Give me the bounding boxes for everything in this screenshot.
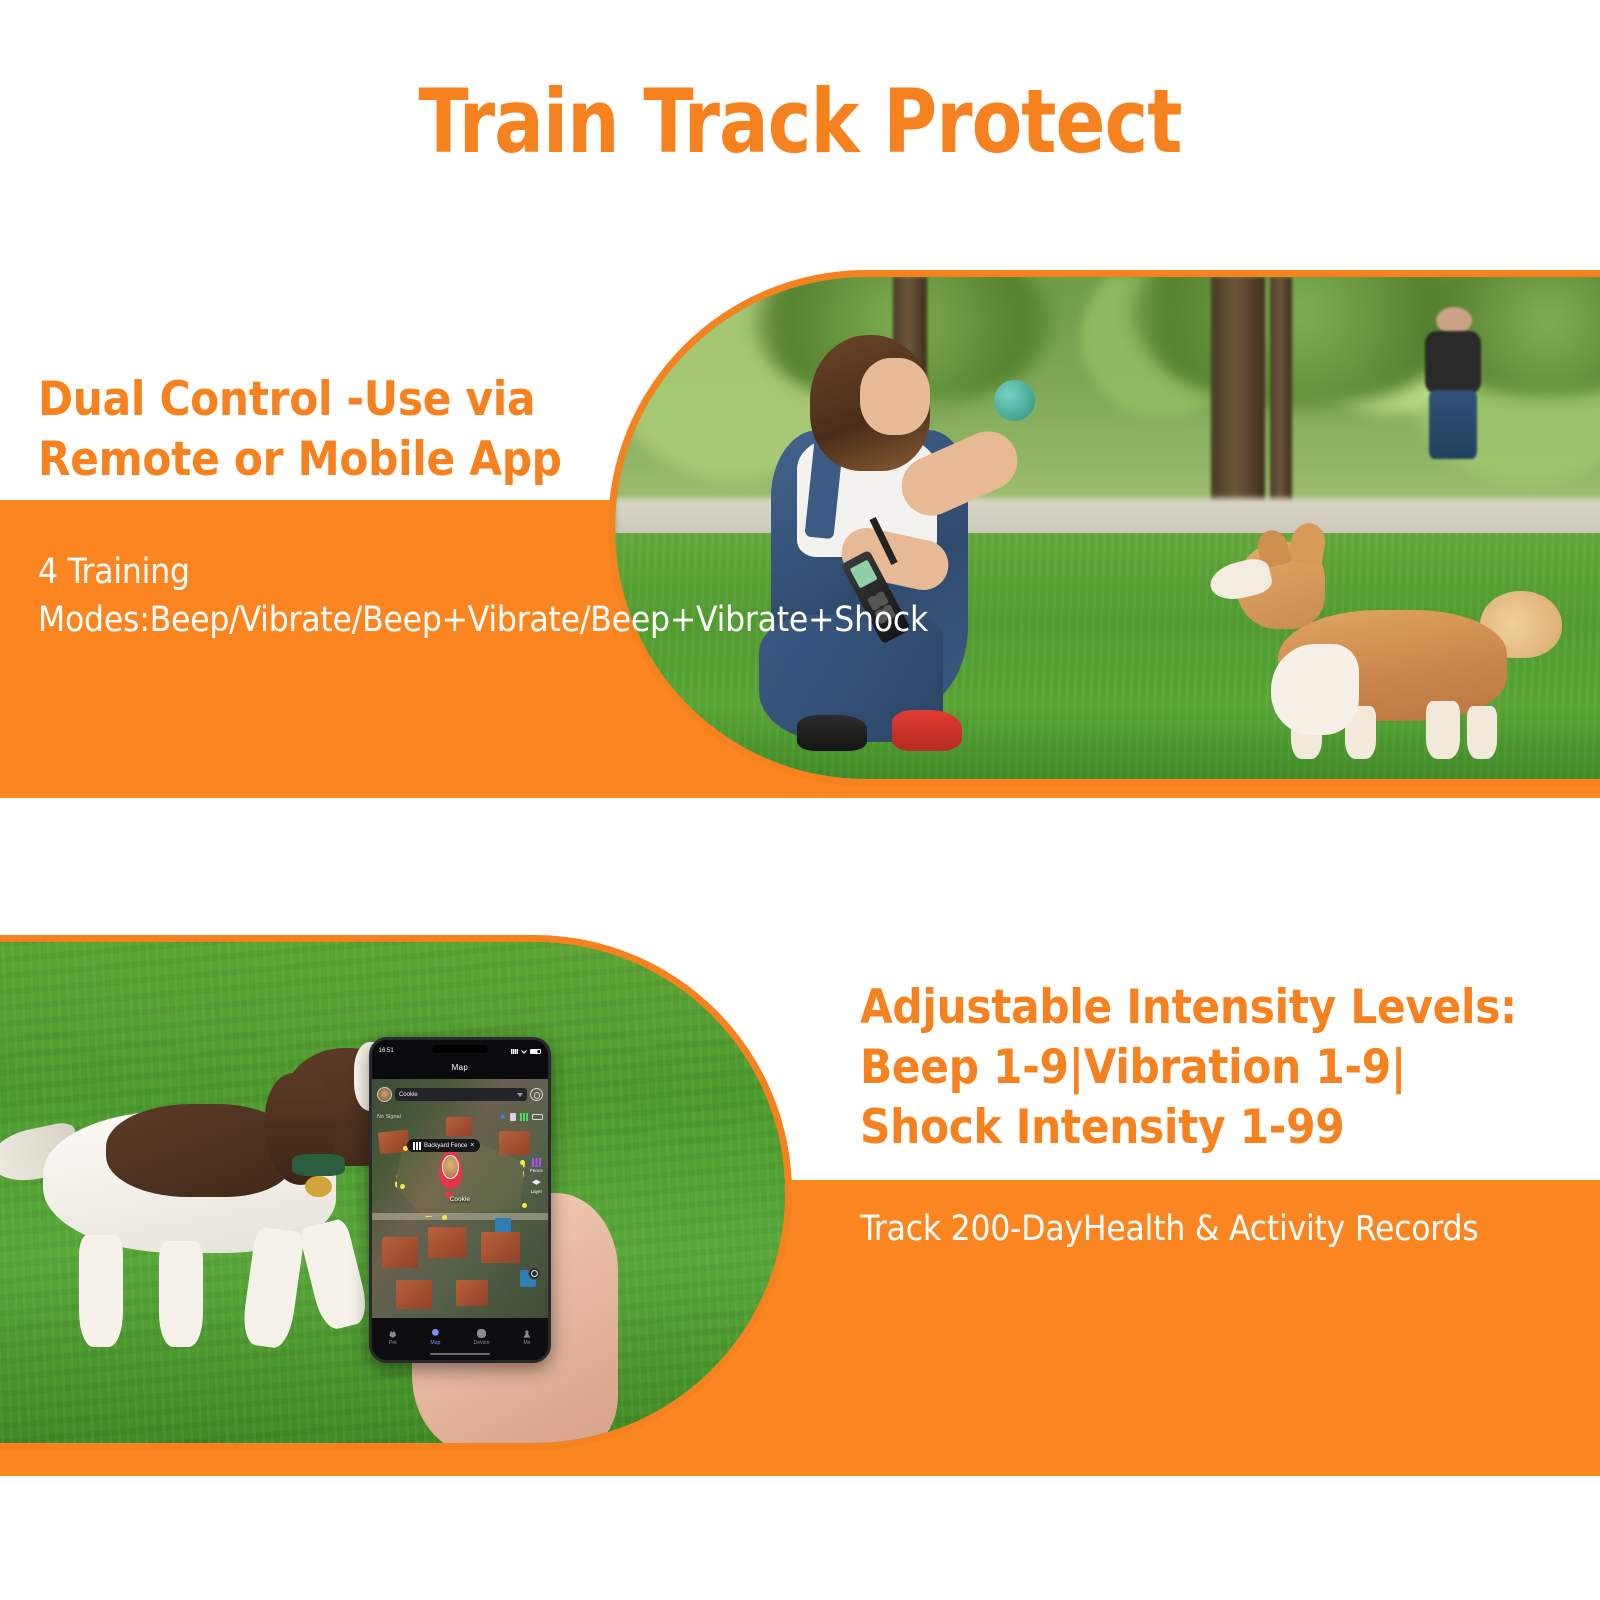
corgi-leg xyxy=(1426,701,1460,759)
status-time: 16:51 xyxy=(379,1048,394,1054)
tab-map[interactable]: Map xyxy=(430,1329,440,1346)
tab-device[interactable]: Device xyxy=(474,1329,490,1346)
green-ball xyxy=(994,380,1035,421)
spaniel-leg xyxy=(159,1241,203,1347)
pet-select-value: Cookie xyxy=(399,1092,418,1098)
battery-icon xyxy=(532,1114,543,1120)
pet-pin-avatar-icon xyxy=(442,1155,459,1179)
corgi-dog xyxy=(1231,528,1569,769)
tree-trunk xyxy=(1270,277,1292,528)
bluetooth-icon: ✺ xyxy=(500,1113,506,1121)
pet-location-pin[interactable] xyxy=(439,1150,462,1188)
tab-pet[interactable]: Pet xyxy=(388,1329,397,1346)
fence-chip[interactable]: Backyard Fence × xyxy=(407,1139,480,1152)
layers-icon xyxy=(532,1179,541,1188)
park-scene xyxy=(615,277,1600,779)
adjustable-intensity-body: Track 200-DayHealth & Activity Records xyxy=(860,1205,1560,1253)
fence-icon xyxy=(520,1113,528,1121)
chevron-down-icon xyxy=(517,1093,523,1097)
pedestrian-head xyxy=(1436,307,1472,334)
woman-red-sneaker xyxy=(892,710,962,751)
pedestrian-torso xyxy=(1425,331,1480,394)
tab-me[interactable]: Me xyxy=(522,1329,531,1346)
background-pedestrian xyxy=(1409,307,1498,458)
person-icon xyxy=(522,1329,531,1338)
map-side-buttons: Fence Layer xyxy=(530,1158,543,1194)
woman-with-remote xyxy=(714,317,1032,769)
map-building xyxy=(396,1280,431,1309)
paw-icon xyxy=(388,1329,397,1338)
corgi-ear xyxy=(1288,521,1328,567)
tab-device-label: Device xyxy=(474,1340,490,1346)
map-building xyxy=(428,1227,467,1258)
fence-chip-label: Backyard Fence xyxy=(424,1143,467,1149)
spaniel-brown-saddle xyxy=(106,1104,293,1197)
layer-button[interactable]: Layer xyxy=(531,1179,543,1194)
locate-icon[interactable] xyxy=(528,1267,541,1280)
map-building xyxy=(382,1237,417,1268)
layer-button-label: Layer xyxy=(531,1189,543,1194)
device-status-label: No Signal xyxy=(377,1114,401,1120)
device-icon xyxy=(477,1329,486,1338)
map-pin-icon xyxy=(431,1329,440,1338)
gear-icon[interactable] xyxy=(530,1088,543,1101)
map-building xyxy=(456,1280,488,1306)
tab-me-label: Me xyxy=(523,1340,530,1346)
woman-dark-sneaker xyxy=(797,715,867,751)
smartphone: 16:51 Map xyxy=(369,1037,551,1363)
pet-select-dropdown[interactable]: Cookie xyxy=(395,1088,527,1101)
corgi-chest xyxy=(1271,644,1359,736)
pet-pin-label: Cookie xyxy=(425,1196,496,1203)
fence-button[interactable]: Fence xyxy=(530,1158,543,1173)
map-pool xyxy=(495,1218,511,1232)
dual-control-body: 4 Training Modes:Beep/Vibrate/Beep+Vibra… xyxy=(38,548,618,644)
battery-icon xyxy=(530,1049,541,1054)
pedestrian-legs xyxy=(1429,390,1477,459)
device-status-row: No Signal ✺ xyxy=(377,1109,543,1125)
close-icon[interactable]: × xyxy=(470,1142,474,1149)
home-indicator xyxy=(430,1353,490,1355)
geofence-handle[interactable] xyxy=(522,1203,527,1208)
map-building xyxy=(499,1131,531,1155)
tab-map-label: Map xyxy=(430,1340,440,1346)
app-screen-title: Map xyxy=(372,1063,548,1072)
woman-face xyxy=(860,358,930,435)
pet-selector-bar: Cookie xyxy=(377,1083,543,1105)
spaniel-leg xyxy=(298,1218,371,1332)
tab-pet-label: Pet xyxy=(389,1340,397,1346)
pet-avatar-icon[interactable] xyxy=(377,1087,392,1102)
spaniel-leg xyxy=(79,1235,123,1347)
corgi-leg xyxy=(1467,706,1497,759)
map-building xyxy=(481,1232,520,1263)
fence-grid-icon xyxy=(413,1142,421,1150)
lock-icon xyxy=(510,1113,516,1121)
dual-control-photo xyxy=(608,270,1600,786)
fence-icon xyxy=(532,1158,541,1167)
page-title: Train Track Protect xyxy=(56,70,1544,173)
adjustable-intensity-heading: Adjustable Intensity Levels: Beep 1-9|Vi… xyxy=(860,978,1560,1158)
tracking-app-photo: 16:51 Map xyxy=(0,935,792,1450)
wifi-icon xyxy=(521,1049,527,1054)
phone-notch xyxy=(432,1045,488,1053)
spaniel-collar xyxy=(292,1154,345,1176)
signal-icon xyxy=(511,1049,518,1054)
geofence-handle[interactable] xyxy=(520,1160,525,1165)
fence-button-label: Fence xyxy=(530,1168,543,1173)
geofence-handle[interactable] xyxy=(400,1184,405,1189)
dual-control-heading: Dual Control -Use via Remote or Mobile A… xyxy=(38,370,638,490)
